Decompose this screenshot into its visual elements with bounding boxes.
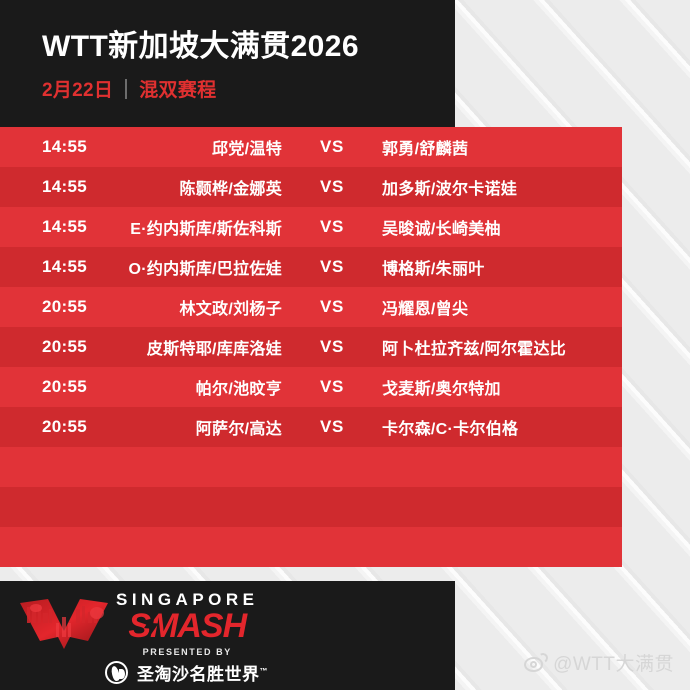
vs-label: VS bbox=[282, 417, 382, 437]
match-pair-right: 冯耀恩/曾尖 bbox=[382, 295, 622, 319]
schedule-empty-row bbox=[0, 487, 622, 527]
match-pair-left: 陈颢桦/金娜英 bbox=[42, 175, 282, 199]
event-logo-lockup: SINGAPORE SMASH PRESENTED BY bbox=[18, 591, 259, 657]
match-row[interactable]: 20:55林文政/刘杨子VS冯耀恩/曾尖 bbox=[0, 287, 622, 327]
smash-w-logo-icon bbox=[18, 597, 110, 651]
match-pair-left: 帕尔/池旼亨 bbox=[42, 375, 282, 399]
sponsor-trademark: ™ bbox=[260, 666, 269, 675]
weibo-watermark: @WTT大满贯 bbox=[524, 649, 674, 676]
weibo-handle: @WTT大满贯 bbox=[553, 649, 674, 676]
schedule-empty-row bbox=[0, 447, 622, 487]
weibo-icon bbox=[524, 653, 548, 672]
vs-label: VS bbox=[282, 177, 382, 197]
match-pair-right: 戈麦斯/奥尔特加 bbox=[382, 375, 622, 399]
vs-label: VS bbox=[282, 337, 382, 357]
match-pair-right: 加多斯/波尔卡诺娃 bbox=[382, 175, 622, 199]
match-pair-left: 林文政/刘杨子 bbox=[42, 295, 282, 319]
match-pair-right: 博格斯/朱丽叶 bbox=[382, 255, 622, 279]
vs-label: VS bbox=[282, 257, 382, 277]
header-subtitle: 2月22日 混双赛程 bbox=[42, 75, 455, 102]
match-pair-right: 阿卜杜拉齐兹/阿尔霍达比 bbox=[382, 335, 622, 359]
subtitle-separator bbox=[125, 79, 127, 99]
match-row[interactable]: 20:55帕尔/池旼亨VS戈麦斯/奥尔特加 bbox=[0, 367, 622, 407]
match-pair-left: E·约内斯库/斯佐科斯 bbox=[42, 215, 282, 239]
match-pair-right: 卡尔森/C·卡尔伯格 bbox=[382, 415, 622, 439]
match-pair-left: O·约内斯库/巴拉佐娃 bbox=[42, 255, 282, 279]
sponsor-name-text: 圣淘沙名胜世界 bbox=[137, 665, 260, 684]
match-pair-right: 吴晙诚/长崎美柚 bbox=[382, 215, 622, 239]
match-pair-left: 皮斯特耶/库库洛娃 bbox=[42, 335, 282, 359]
vs-label: VS bbox=[282, 137, 382, 157]
match-row[interactable]: 20:55阿萨尔/高达VS卡尔森/C·卡尔伯格 bbox=[0, 407, 622, 447]
match-row[interactable]: 14:55E·约内斯库/斯佐科斯VS吴晙诚/长崎美柚 bbox=[0, 207, 622, 247]
page-title: WTT新加坡大满贯2026 bbox=[42, 30, 455, 63]
sponsor-logo-icon bbox=[105, 661, 128, 684]
match-pair-left: 邱党/温特 bbox=[42, 135, 282, 159]
singapore-label: SINGAPORE bbox=[116, 591, 259, 608]
event-date: 2月22日 bbox=[42, 75, 113, 102]
sponsor-name: 圣淘沙名胜世界™ bbox=[137, 660, 268, 685]
schedule-empty-row bbox=[0, 527, 622, 567]
vs-label: VS bbox=[282, 297, 382, 317]
event-category: 混双赛程 bbox=[139, 75, 216, 102]
vs-label: VS bbox=[282, 217, 382, 237]
match-row[interactable]: 14:55邱党/温特VS郭勇/舒麟茜 bbox=[0, 127, 622, 167]
presented-by-label: PRESENTED BY bbox=[116, 647, 259, 657]
match-row[interactable]: 14:55陈颢桦/金娜英VS加多斯/波尔卡诺娃 bbox=[0, 167, 622, 207]
header-panel: WTT新加坡大满贯2026 2月22日 混双赛程 bbox=[0, 0, 455, 127]
smash-wordmark: SINGAPORE SMASH PRESENTED BY bbox=[116, 591, 259, 657]
smash-label: SMASH bbox=[116, 609, 259, 645]
match-pair-right: 郭勇/舒麟茜 bbox=[382, 135, 622, 159]
vs-label: VS bbox=[282, 377, 382, 397]
weibo-pupil-shape bbox=[530, 661, 537, 668]
schedule-table: 14:55邱党/温特VS郭勇/舒麟茜14:55陈颢桦/金娜英VS加多斯/波尔卡诺… bbox=[0, 127, 622, 581]
match-pair-left: 阿萨尔/高达 bbox=[42, 415, 282, 439]
sponsor-lockup: 圣淘沙名胜世界™ bbox=[105, 660, 268, 685]
match-row[interactable]: 20:55皮斯特耶/库库洛娃VS阿卜杜拉齐兹/阿尔霍达比 bbox=[0, 327, 622, 367]
match-row[interactable]: 14:55O·约内斯库/巴拉佐娃VS博格斯/朱丽叶 bbox=[0, 247, 622, 287]
